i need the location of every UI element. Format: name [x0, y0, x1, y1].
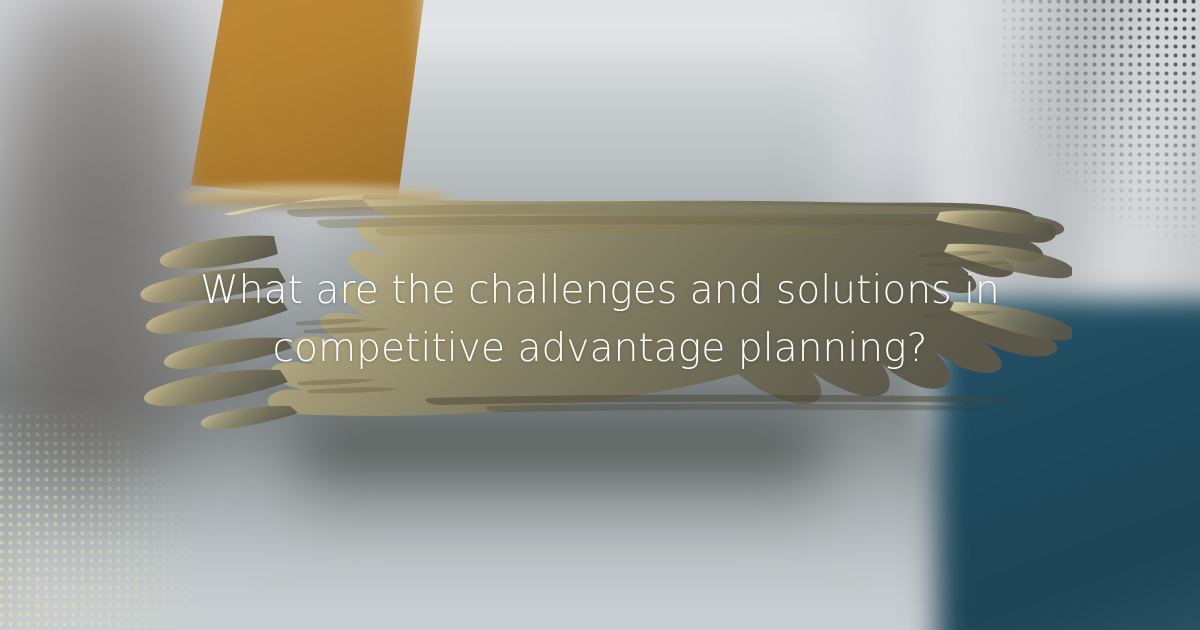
social-card: What are the challenges and solutions in… [0, 0, 1200, 630]
page-title: What are the challenges and solutions in… [170, 262, 1030, 378]
halftone-dots-bottom-left-icon [0, 412, 198, 630]
background-lampshade [186, 0, 426, 204]
